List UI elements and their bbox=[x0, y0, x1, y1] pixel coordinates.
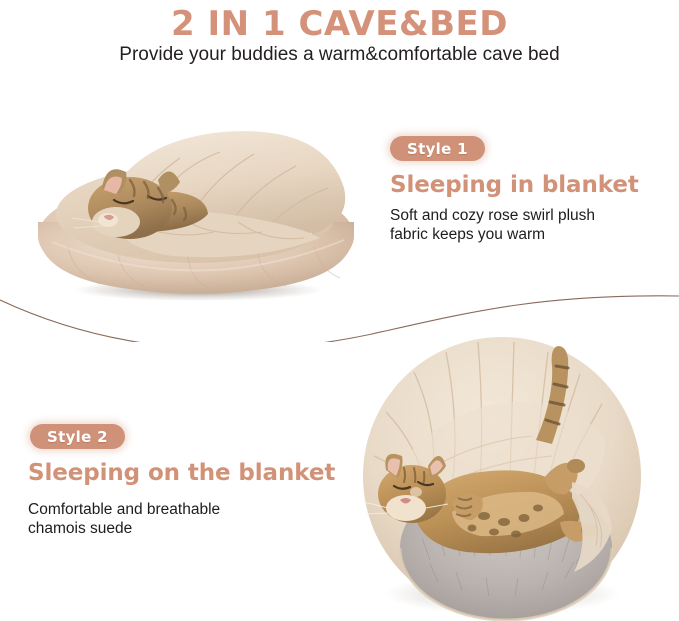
body-style-1-line-2: fabric keeps you warm bbox=[390, 225, 595, 244]
badge-style-2: Style 2 bbox=[30, 424, 125, 449]
page-subtitle: Provide your buddies a warm&comfortable … bbox=[0, 44, 679, 66]
heading-style-2: Sleeping on the blanket bbox=[28, 460, 335, 486]
infographic-canvas: 2 IN 1 CAVE&BED Provide your buddies a w… bbox=[0, 0, 679, 621]
badge-style-1: Style 1 bbox=[390, 136, 485, 161]
body-style-1-line-1: Soft and cozy rose swirl plush bbox=[390, 206, 595, 225]
cave-bed-illustration bbox=[8, 96, 380, 304]
page-title: 2 IN 1 CAVE&BED bbox=[0, 4, 679, 44]
product-photo-flat-mat bbox=[356, 332, 648, 621]
product-photo-cave-bed bbox=[8, 96, 380, 304]
heading-style-1: Sleeping in blanket bbox=[390, 172, 639, 198]
body-style-2-line-1: Comfortable and breathable bbox=[28, 500, 220, 519]
flat-mat-illustration bbox=[356, 332, 648, 621]
body-style-1: Soft and cozy rose swirl plush fabric ke… bbox=[390, 206, 595, 244]
body-style-2-line-2: chamois suede bbox=[28, 519, 220, 538]
body-style-2: Comfortable and breathable chamois suede bbox=[28, 500, 220, 538]
